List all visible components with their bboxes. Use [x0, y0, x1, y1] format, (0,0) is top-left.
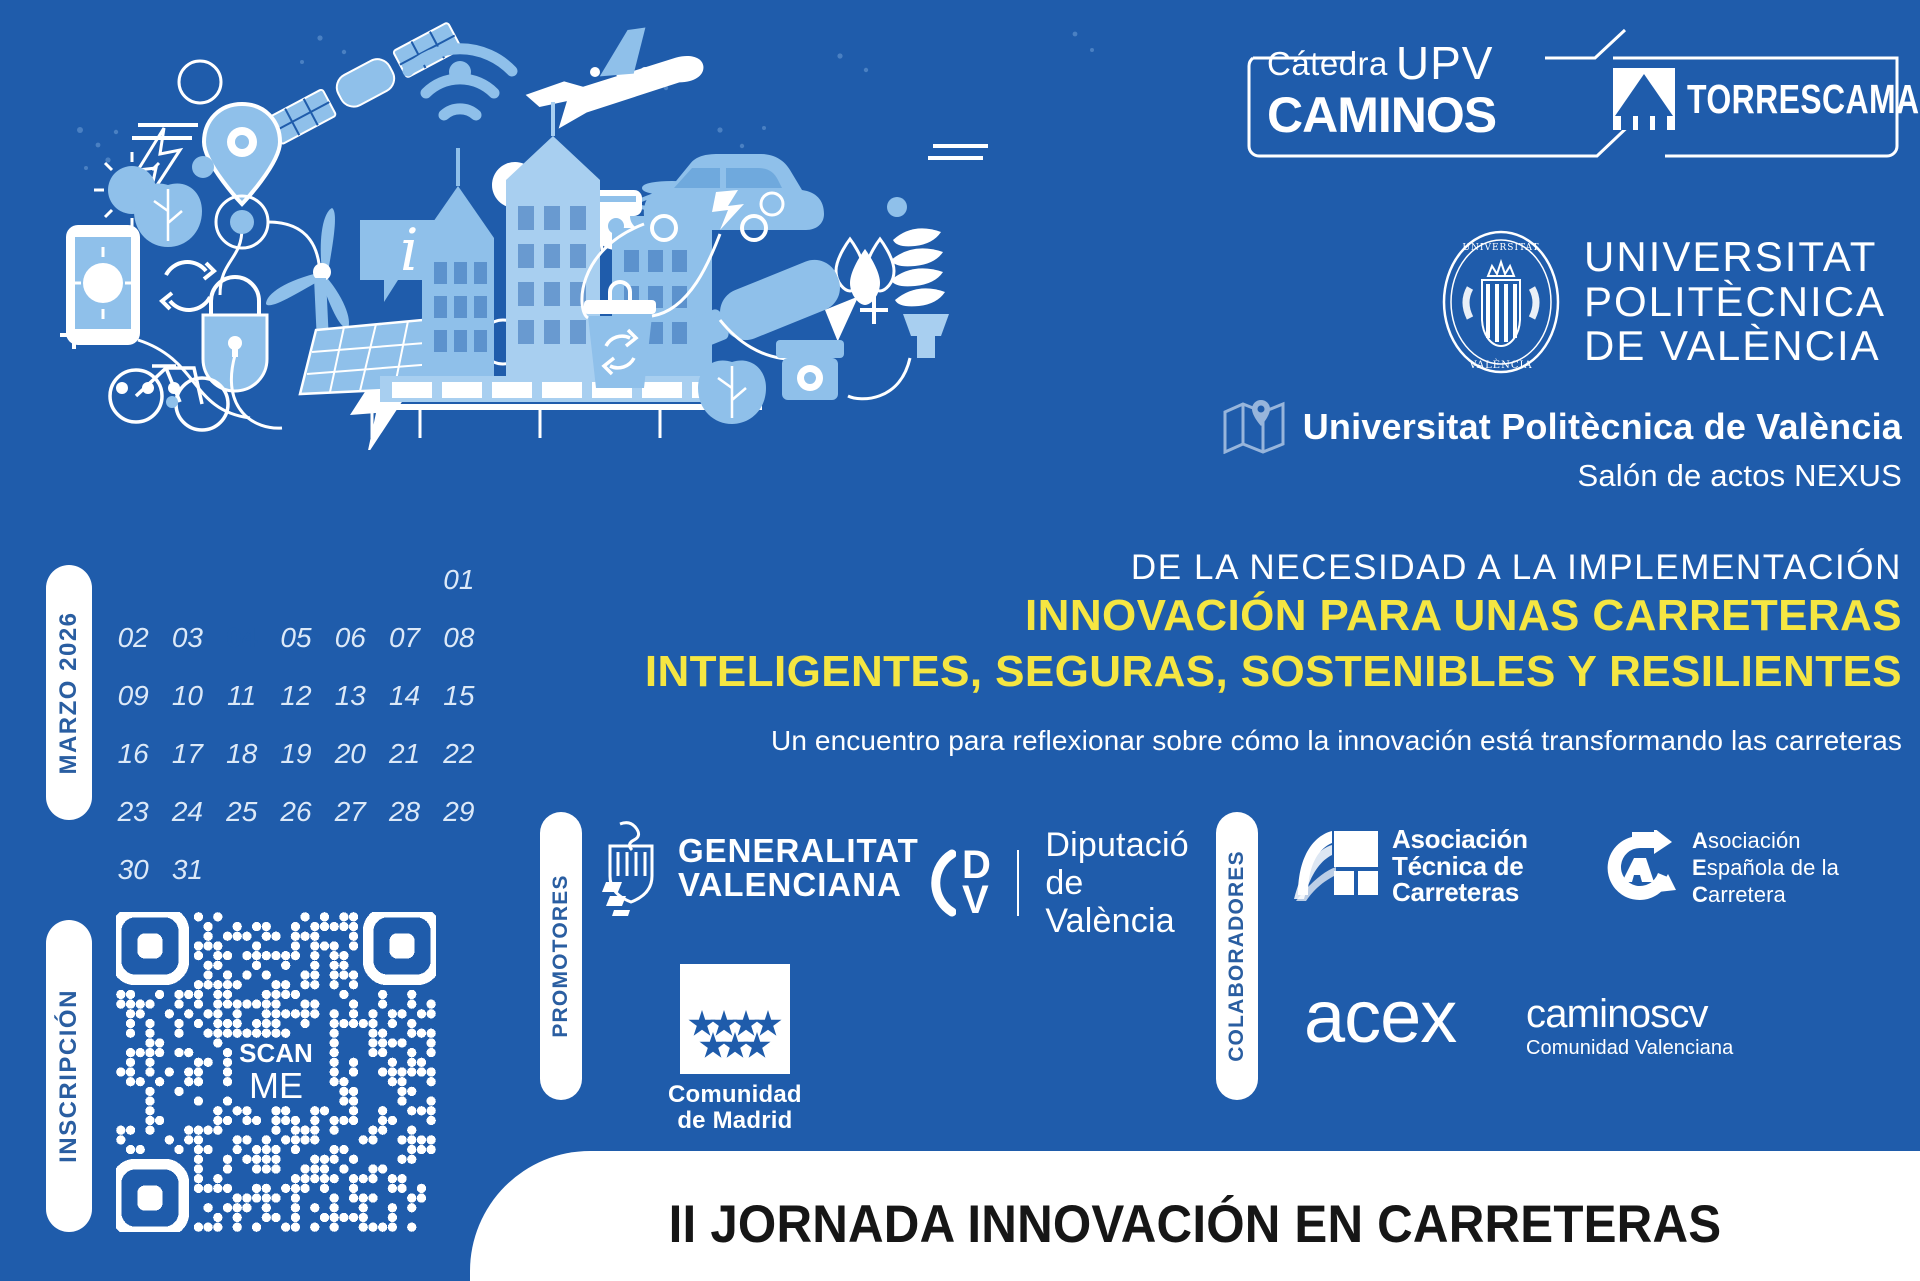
calendar-day[interactable]: 26	[269, 789, 323, 835]
promoters-label: PROMOTORES	[540, 812, 582, 1100]
collaborators-label: COLABORADORES	[1216, 812, 1258, 1100]
svg-text:UNIVERSITAT: UNIVERSITAT	[1462, 243, 1539, 253]
calendar-grid: 0102030405060708091011121314151617181920…	[106, 557, 486, 893]
venue-name: Universitat Politècnica de València	[1303, 406, 1902, 448]
generalitat-crest-icon	[600, 820, 662, 916]
cm-line2: de Madrid	[668, 1108, 802, 1134]
headline-block: DE LA NECESIDAD A LA IMPLEMENTACIÓN INNO…	[602, 548, 1902, 757]
calendar-day[interactable]: 08	[432, 615, 486, 661]
dv-arc-icon	[930, 848, 956, 918]
qr-scan-label: SCAN	[239, 1040, 313, 1066]
universitat-politecnica-valencia-logo: UNIVERSITAT VALÈNCIA UNIVERSITAT POLITÈC…	[1440, 228, 1886, 376]
aec-l3-bold: C	[1692, 882, 1708, 907]
generalitat-valenciana-logo: GENERALITAT VALENCIANA	[600, 820, 919, 916]
calendar-day[interactable]: 11	[215, 673, 269, 719]
headline-kicker: DE LA NECESIDAD A LA IMPLEMENTACIÓN	[602, 548, 1902, 588]
calendar-day[interactable]: 05	[269, 615, 323, 661]
catedra-upv: UPV	[1396, 37, 1494, 89]
calendar-day[interactable]: 25	[215, 789, 269, 835]
calendar-day[interactable]: 31	[160, 847, 214, 893]
calendar-day[interactable]: 12	[269, 673, 323, 719]
dv-line1: Diputació	[1045, 826, 1189, 864]
headline-subtitle: Un encuentro para reflexionar sobre cómo…	[602, 725, 1902, 757]
calendar-day[interactable]: 13	[323, 673, 377, 719]
map-pin-icon	[1223, 400, 1285, 454]
venue-room: Salón de actos NEXUS	[1223, 458, 1902, 494]
atc-mark-icon	[1292, 827, 1382, 905]
caminos-wordmark: CAMINOS	[1267, 92, 1496, 140]
torrescamara-mark-icon	[1613, 68, 1675, 130]
aec-l3-rest: arretera	[1708, 882, 1786, 907]
dv-divider	[1017, 850, 1019, 916]
aec-l1-bold: A	[1692, 828, 1708, 853]
poster-root: i	[0, 0, 1920, 1281]
comunidad-de-madrid-logo: Comunidad de Madrid	[668, 964, 802, 1134]
torrescamara-wordmark: TORRESCAMARA	[1687, 76, 1920, 123]
gv-line1: GENERALITAT	[678, 834, 919, 868]
calendar-day[interactable]: 20	[323, 731, 377, 777]
calendar-day[interactable]: 07	[377, 615, 431, 661]
dv-line2: de València	[1045, 864, 1189, 940]
registration-block: INSCRIPCIÓN SCAN ME	[46, 912, 446, 1242]
ccv-line1: caminoscv	[1526, 994, 1733, 1034]
calendar-day[interactable]: 10	[160, 673, 214, 719]
calendar-day[interactable]: 17	[160, 731, 214, 777]
calendar-day[interactable]: 27	[323, 789, 377, 835]
calendar-day[interactable]: 19	[269, 731, 323, 777]
calendar-day[interactable]: 28	[377, 789, 431, 835]
torrescamara-logo: TORRESCAMARA	[1613, 68, 1920, 130]
catedra-prefix: Cátedra	[1267, 45, 1388, 82]
venue-block: Universitat Politècnica de València Saló…	[1223, 400, 1902, 494]
calendar-day[interactable]: 23	[106, 789, 160, 835]
atc-line1: Asociación	[1392, 826, 1528, 853]
comunidad-madrid-stars-icon	[680, 964, 790, 1074]
aec-l1-rest: sociación	[1708, 828, 1801, 853]
asociacion-espanola-de-la-carretera-logo: Asociación Española de la Carretera	[1602, 828, 1839, 908]
upv-seal-icon: UNIVERSITAT VALÈNCIA	[1440, 228, 1562, 376]
asociacion-tecnica-de-carreteras-logo: Asociación Técnica de Carreteras	[1292, 826, 1528, 906]
acex-wordmark: acex	[1304, 980, 1456, 1054]
calendar-day[interactable]: 18	[215, 731, 269, 777]
upv-wordmark: UNIVERSITAT POLITÈCNICA DE VALÈNCIA	[1584, 235, 1886, 369]
upv-word-line1: UNIVERSITAT	[1584, 235, 1886, 280]
catedra-upv-caminos-logo: CátedraUPV CAMINOS TORRESCAMARA	[1245, 28, 1905, 176]
svg-text:i: i	[400, 216, 419, 284]
calendar-day[interactable]: 29	[432, 789, 486, 835]
atc-line2: Técnica de	[1392, 853, 1528, 880]
acex-logo: acex	[1304, 980, 1456, 1054]
calendar-month-label: MARZO 2026	[46, 565, 92, 820]
dv-letter-v: V	[962, 883, 991, 918]
calendar-day[interactable]: 24	[160, 789, 214, 835]
svg-text:VALÈNCIA: VALÈNCIA	[1468, 359, 1532, 371]
calendar-day[interactable]: 21	[377, 731, 431, 777]
registration-label: INSCRIPCIÓN	[46, 920, 92, 1232]
ccv-line2: Comunidad Valenciana	[1526, 1037, 1733, 1060]
headline-line2: INTELIGENTES, SEGURAS, SOSTENIBLES Y RES…	[602, 644, 1902, 700]
calendar-day[interactable]: 30	[106, 847, 160, 893]
cm-line1: Comunidad	[668, 1082, 802, 1108]
upv-word-line3: DE VALÈNCIA	[1584, 324, 1886, 369]
footer-title: II JORNADA INNOVACIÓN EN CARRETERAS	[521, 1194, 1870, 1255]
calendar-day-selected[interactable]: 04	[215, 615, 269, 661]
aec-l2-bold: E	[1692, 855, 1707, 880]
calendar: MARZO 2026 01020304050607080910111213141…	[46, 565, 486, 855]
aec-l2-light: de la	[1785, 855, 1839, 880]
headline-line1: INNOVACIÓN PARA UNAS CARRETERAS	[602, 588, 1902, 644]
calendar-day[interactable]: 06	[323, 615, 377, 661]
caminoscv-logo: caminoscv Comunidad Valenciana	[1526, 994, 1733, 1060]
calendar-day[interactable]: 03	[160, 615, 214, 661]
promoters-group: PROMOTORES	[540, 812, 1140, 1102]
collaborators-group: COLABORADORES Asociación Técnica de	[1216, 812, 1916, 1102]
aec-l2-rest: spañola	[1707, 855, 1785, 880]
smart-city-illustration: i	[20, 10, 1130, 450]
upv-word-line2: POLITÈCNICA	[1584, 280, 1886, 325]
calendar-day[interactable]: 02	[106, 615, 160, 661]
aec-mark-icon	[1602, 830, 1678, 906]
calendar-day[interactable]: 16	[106, 731, 160, 777]
calendar-day[interactable]: 22	[432, 731, 486, 777]
qr-code[interactable]: SCAN ME	[116, 912, 436, 1232]
calendar-day[interactable]: 09	[106, 673, 160, 719]
atc-line3: Carreteras	[1392, 879, 1528, 906]
footer-bar: II JORNADA INNOVACIÓN EN CARRETERAS	[470, 1151, 1920, 1281]
calendar-day[interactable]: 15	[432, 673, 486, 719]
qr-me-label: ME	[239, 1068, 313, 1104]
gv-line2: VALENCIANA	[678, 868, 919, 902]
calendar-day[interactable]: 01	[432, 557, 486, 603]
calendar-day[interactable]: 14	[377, 673, 431, 719]
diputacio-de-valencia-logo: D V Diputació de València	[930, 826, 1189, 940]
